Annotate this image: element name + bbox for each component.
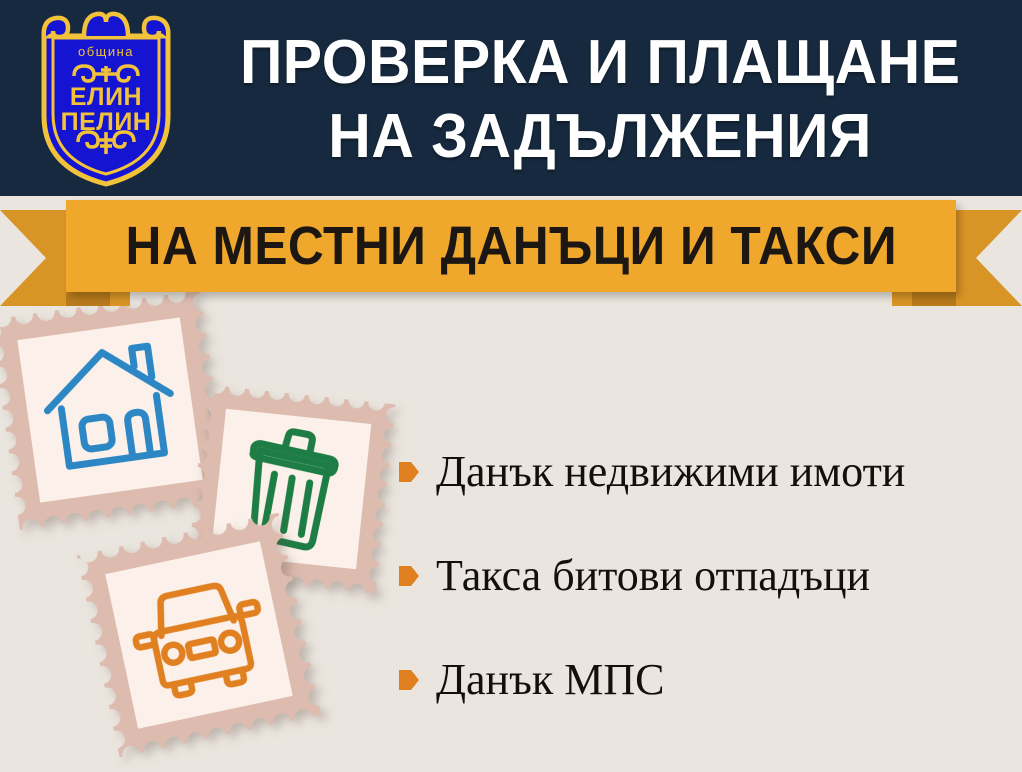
page-title-line-1: ПРОВЕРКА И ПЛАЩАНЕ [240,26,960,100]
ribbon-banner: НА МЕСТНИ ДАНЪЦИ И ТАКСИ [0,196,1022,306]
arrow-right-bullet-icon [398,563,420,589]
crest-name-line1: ЕЛИН [70,83,142,111]
ribbon-label: НА МЕСТНИ ДАНЪЦИ И ТАКСИ [125,217,897,275]
ribbon-fold-left [66,292,110,306]
poster-canvas: община ЕЛИН ПЕЛИН ПРОВЕРКА И ПЛАЩАНЕ НА … [0,0,1022,772]
stamp-illustration-group [0,300,420,770]
list-item-label: Такса битови отпадъци [436,551,870,601]
ribbon-fold-right [912,292,956,306]
list-item[interactable]: Такса битови отпадъци [398,524,1018,628]
list-item[interactable]: Данък недвижими имоти [398,420,1018,524]
header-bar: община ЕЛИН ПЕЛИН ПРОВЕРКА И ПЛАЩАНЕ НА … [0,0,1022,196]
list-item[interactable]: Данък МПС [398,628,1018,732]
stamp-card-car [77,513,321,757]
arrow-right-bullet-icon [398,459,420,485]
page-title: ПРОВЕРКА И ПЛАЩАНЕ НА ЗАДЪЛЖЕНИЯ [190,14,1010,186]
list-item-label: Данък МПС [436,655,664,705]
coat-of-arms-shield-icon: община ЕЛИН ПЕЛИН [22,8,190,188]
page-title-line-2: НА ЗАДЪЛЖЕНИЯ [328,100,871,174]
crest-community-label: община [78,44,134,59]
crest-name-line2: ПЕЛИН [61,108,152,136]
list-item-label: Данък недвижими имоти [436,447,905,497]
arrow-right-bullet-icon [398,667,420,693]
ribbon-band: НА МЕСТНИ ДАНЪЦИ И ТАКСИ [66,200,956,292]
tax-type-list: Данък недвижими имоти Такса битови отпад… [398,420,1018,732]
